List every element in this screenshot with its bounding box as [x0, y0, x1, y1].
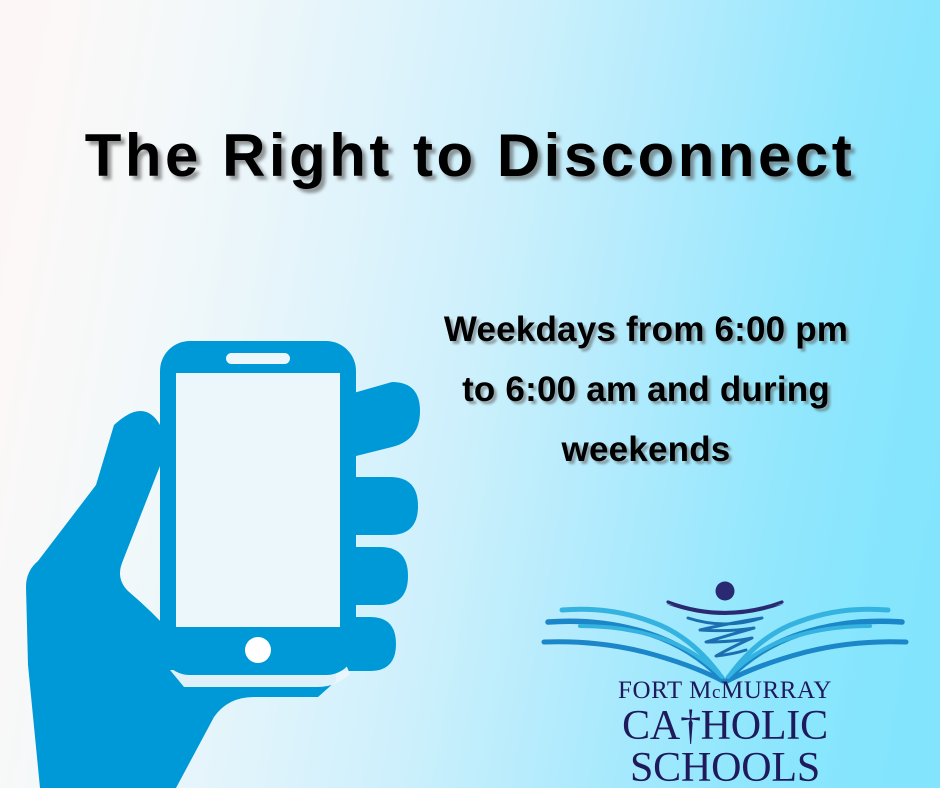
- hand-holding-phone-illustration: [18, 325, 438, 788]
- page-title: The Right to Disconnect: [0, 124, 940, 187]
- phone-home-button: [245, 637, 271, 663]
- schedule-line-2: to 6:00 am and during: [382, 360, 910, 420]
- logo-org-line-1: FORT McMURRAY: [540, 678, 910, 703]
- fort-mcmurray-catholic-schools-logo: FORT McMURRAY CA†HOLIC SCHOOLS: [540, 578, 910, 753]
- schedule-line-3: weekends: [382, 420, 910, 480]
- schedule-line-1: Weekdays from 6:00 pm: [382, 300, 910, 360]
- logo-mark-icon: [540, 578, 910, 686]
- schedule-text: Weekdays from 6:00 pm to 6:00 am and dur…: [382, 300, 910, 481]
- phone-speaker-slot: [226, 353, 290, 364]
- poster-canvas: The Right to Disconnect Weekdays from 6:…: [0, 0, 940, 788]
- logo-head-dot: [716, 582, 735, 601]
- logo-org-line-2: CA†HOLIC SCHOOLS: [540, 705, 910, 788]
- logo-wordmark: FORT McMURRAY CA†HOLIC SCHOOLS: [540, 678, 910, 788]
- cross-icon: †: [680, 703, 701, 749]
- smartphone-icon: [160, 341, 356, 675]
